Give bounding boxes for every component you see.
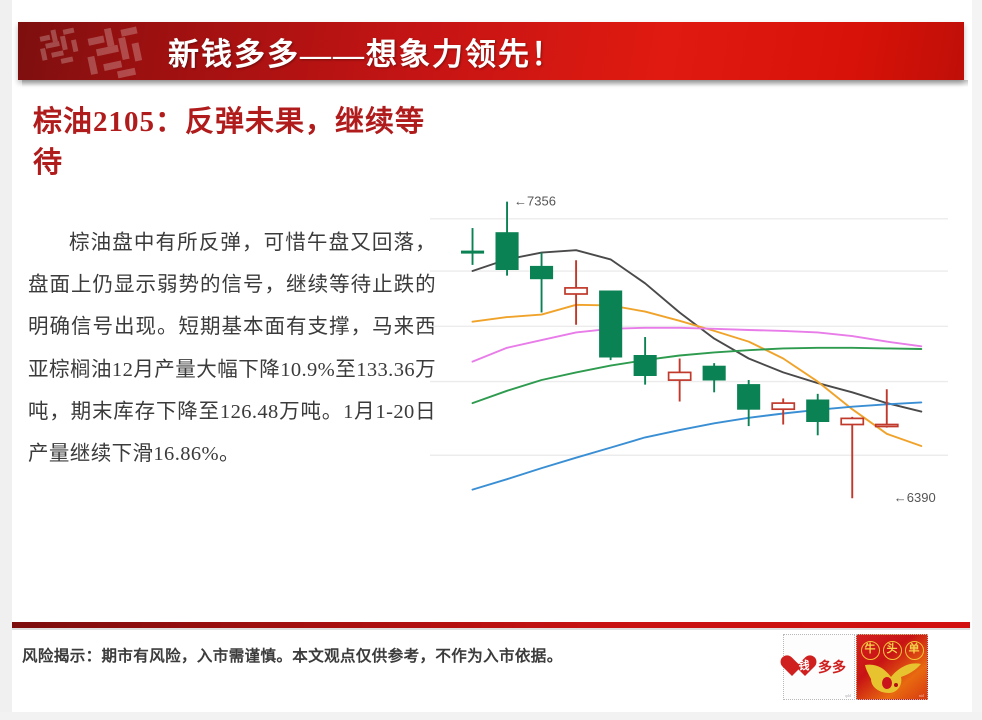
slide-page: 新钱多多——想象力领先！ 棕油2105：反弹未果，继续等待 棕油盘中有所反弹，可… — [0, 0, 982, 720]
logo-qianduoduo-watermark: qdd — [845, 693, 851, 698]
heart-char: 钱 — [797, 659, 811, 673]
article-body: 棕油盘中有所反弹，可惜午盘又回落，盘面上仍显示弱势的信号，继续等待止跌的明确信号… — [28, 222, 436, 475]
right-edge-strip — [972, 0, 982, 720]
logo-niutoudan-char-1: 牛 — [861, 641, 880, 660]
header-banner: 新钱多多——想象力领先！ — [18, 22, 964, 80]
svg-text:←7356: ←7356 — [514, 194, 556, 209]
logo-niutoudan-watermark: ntd — [919, 693, 924, 698]
svg-text:←6390: ←6390 — [894, 490, 936, 505]
logo-niutoudan-char-2: 头 — [883, 641, 902, 660]
footer-rule-shadow — [12, 628, 970, 630]
logo-niutoudan: 牛 头 单 ntd — [856, 634, 928, 700]
left-edge-strip — [0, 0, 12, 720]
risk-disclaimer: 风险揭示：期市有风险，入市需谨慎。本文观点仅供参考，不作为入市依据。 — [22, 644, 563, 666]
logo-qianduoduo: 钱 多多 qdd — [783, 634, 855, 700]
chinese-knot-emblem-icon — [32, 22, 152, 80]
logo-qianduoduo-text: 多多 — [818, 657, 846, 677]
candlestick-chart-svg: ←7356←6390 — [430, 172, 950, 552]
page-title: 棕油2105：反弹未果，继续等待 — [33, 102, 433, 184]
logo-niutoudan-char-3: 单 — [905, 641, 924, 660]
banner-shadow — [22, 80, 968, 87]
bottom-edge-strip — [0, 712, 982, 720]
header-title: 新钱多多——想象力领先！ — [168, 29, 564, 74]
heart-icon: 钱 — [792, 656, 816, 678]
price-chart: ←7356←6390 — [430, 172, 950, 552]
bull-head-icon — [863, 661, 923, 695]
